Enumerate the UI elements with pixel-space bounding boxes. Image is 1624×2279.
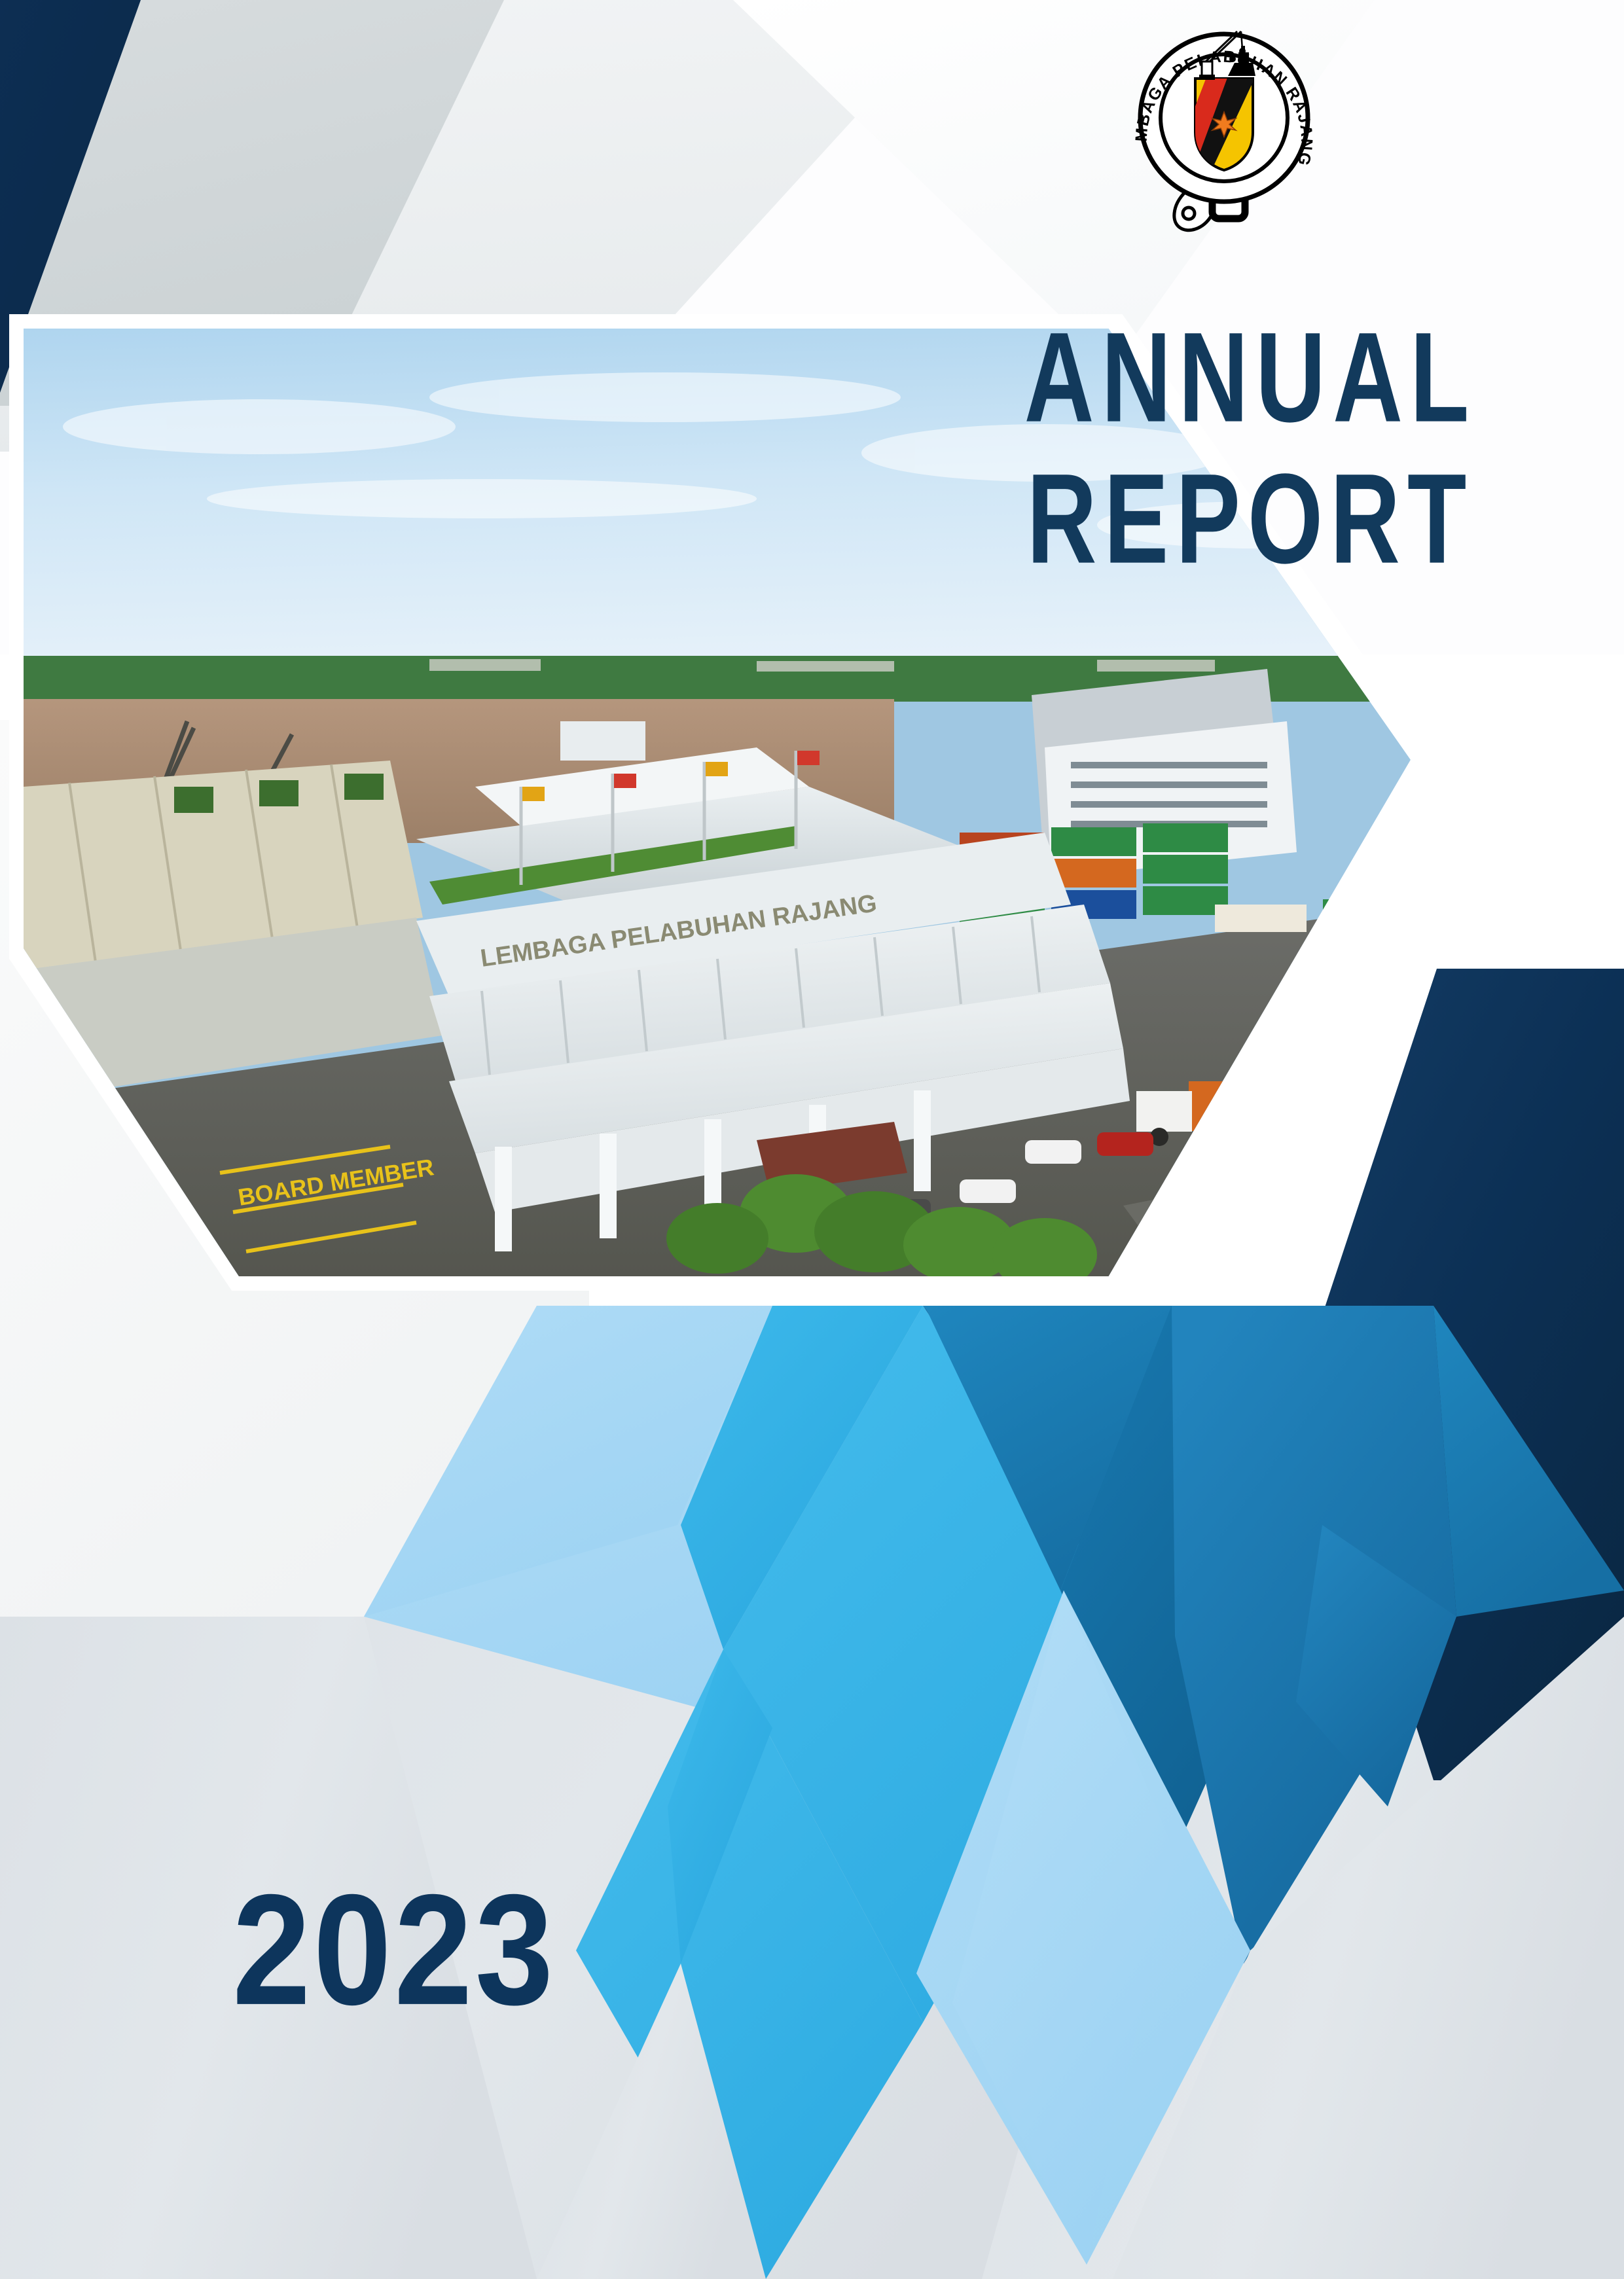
photo-hq-rooftop-box — [560, 721, 645, 761]
title-line-annual: ANNUAL — [982, 314, 1519, 442]
cover-title-block: ANNUAL REPORT — [982, 314, 1519, 552]
photo-road-line — [1176, 1191, 1422, 1240]
title-line-report: REPORT — [982, 456, 1519, 583]
organisation-logo: LEMBAGA PELABUHAN RAJANG — [1113, 20, 1335, 236]
annual-report-cover: LEMBAGA PELABUHAN RAJANG — [0, 0, 1624, 2279]
logo-artwork: LEMBAGA PELABUHAN RAJANG — [1113, 20, 1335, 236]
cover-year: 2023 — [232, 1871, 556, 2028]
